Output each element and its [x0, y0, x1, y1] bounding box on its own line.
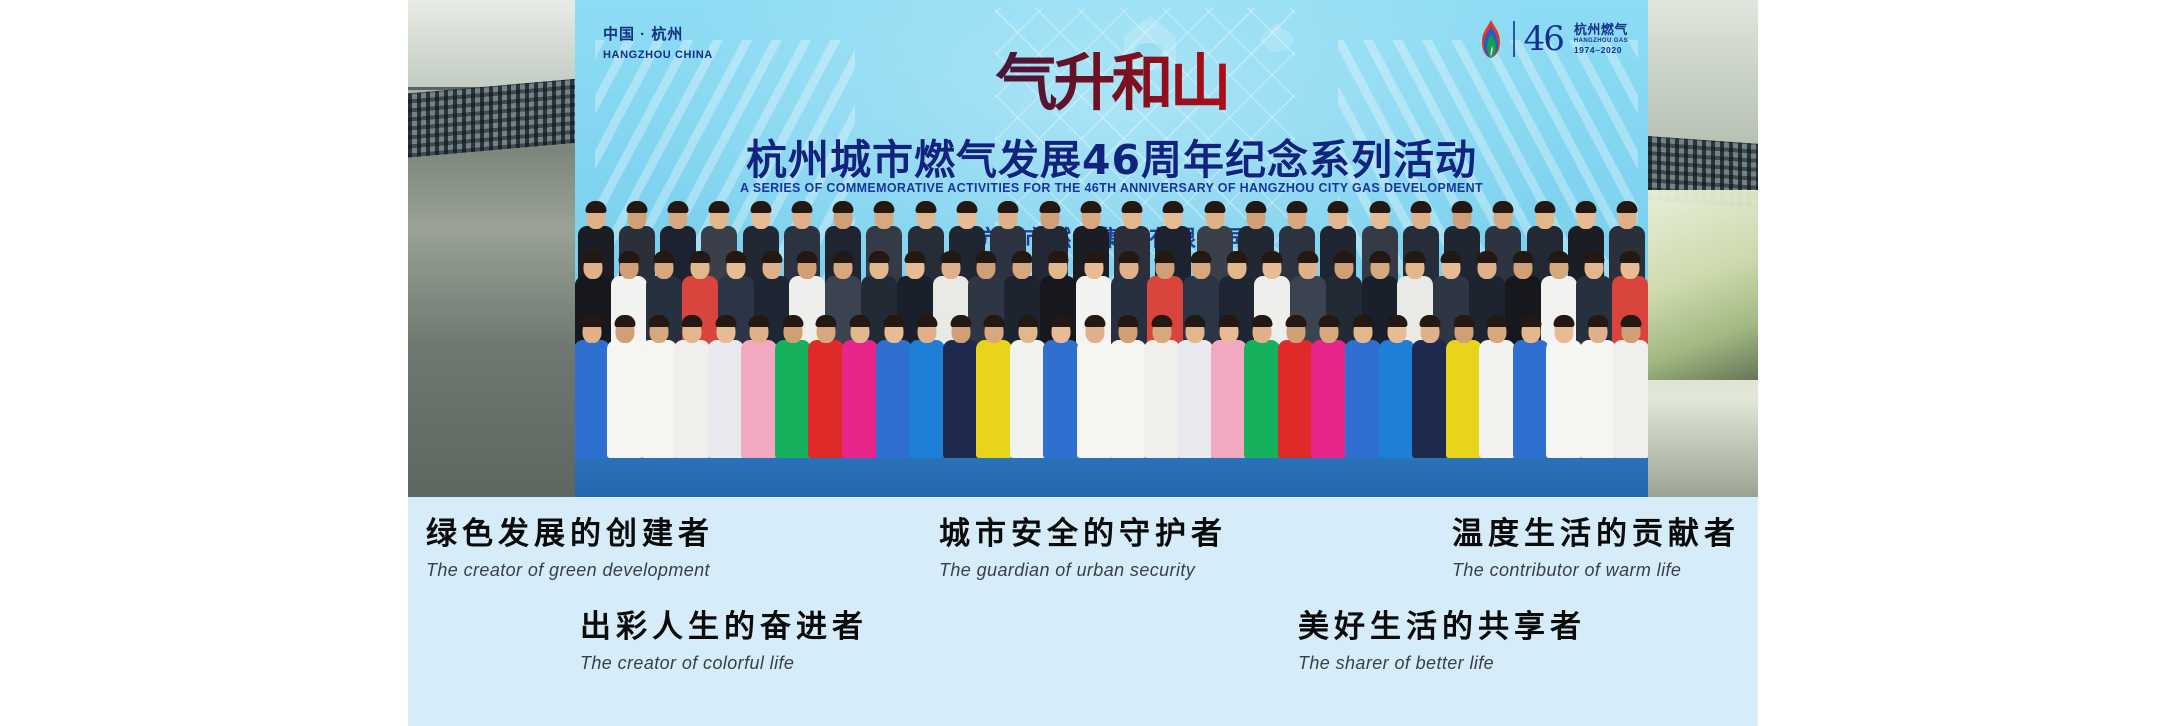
art-wordmark: 气升和山 [575, 52, 1648, 114]
person [843, 304, 877, 464]
person-body [976, 340, 1012, 458]
person-body [1311, 340, 1347, 458]
slogan-row-1: 绿色发展的创建者 The creator of green developmen… [408, 516, 1758, 581]
person [1581, 304, 1615, 464]
person-hair [1386, 315, 1407, 327]
person-body [641, 340, 677, 458]
person [944, 304, 978, 464]
person-hair [750, 201, 771, 213]
person-body [1110, 340, 1146, 458]
person-body [1446, 340, 1482, 458]
person-body [842, 340, 878, 458]
person-hair [668, 201, 689, 213]
person-hair [782, 315, 803, 327]
glass-panel-left [408, 0, 580, 90]
person [1212, 304, 1246, 464]
person [977, 304, 1011, 464]
slogan-panel: 绿色发展的创建者 The creator of green developmen… [408, 497, 1758, 726]
slogan-cn: 出彩人生的奋进者 [580, 609, 868, 647]
person [1112, 304, 1146, 464]
person-hair [797, 251, 818, 263]
person-hair [615, 315, 636, 327]
person [575, 304, 609, 464]
person-hair [1405, 251, 1426, 263]
person-body [1244, 340, 1280, 458]
person-hair [1155, 251, 1176, 263]
person-hair [715, 315, 736, 327]
person-body [1546, 340, 1582, 458]
person-hair [582, 251, 603, 263]
venue-wall-right [1648, 0, 1758, 497]
person-hair [1328, 201, 1349, 213]
person-body [943, 340, 979, 458]
person-hair [1452, 201, 1473, 213]
person [1614, 304, 1648, 464]
person-hair [1163, 201, 1184, 213]
person-hair [950, 315, 971, 327]
person-hair [1576, 201, 1597, 213]
person-hair [618, 251, 639, 263]
slogan-en: The creator of green development [426, 560, 714, 581]
person-hair [1083, 251, 1104, 263]
slogan-cn: 温度生活的贡献者 [1452, 516, 1740, 554]
person-hair [1119, 251, 1140, 263]
company-name-en: HANGZHOU GAS [1574, 38, 1628, 45]
person-hair [984, 315, 1005, 327]
slogan-cn: 城市安全的守护者 [939, 516, 1227, 554]
person-hair [1487, 315, 1508, 327]
person-hair [1262, 251, 1283, 263]
person-hair [883, 315, 904, 327]
slogan-item: 绿色发展的创建者 The creator of green developmen… [426, 516, 714, 581]
person-body [674, 340, 710, 458]
person-body [1010, 340, 1046, 458]
window-foliage [1648, 190, 1758, 380]
slogan-cn: 美好生活的共享者 [1298, 609, 1586, 647]
company-name-cn: 杭州燃气 [1574, 23, 1628, 38]
person-hair [1226, 251, 1247, 263]
person [1514, 304, 1548, 464]
people-group [575, 200, 1648, 497]
person-hair [690, 251, 711, 263]
person-hair [850, 315, 871, 327]
person [1480, 304, 1514, 464]
person-hair [1333, 251, 1354, 263]
person-body [876, 340, 912, 458]
main-title: 杭州城市燃气发展46周年纪念系列活动 [575, 126, 1648, 186]
person-body [1144, 340, 1180, 458]
person-hair [1080, 201, 1101, 213]
slogan-item: 出彩人生的奋进者 The creator of colorful life [580, 609, 868, 674]
person-hair [957, 201, 978, 213]
person-hair [1369, 251, 1390, 263]
person [743, 304, 777, 464]
person-hair [1620, 251, 1641, 263]
slogan-en: The contributor of warm life [1452, 560, 1740, 581]
person-body [575, 340, 610, 458]
person-hair [749, 315, 770, 327]
slogan-cn: 绿色发展的创建者 [426, 516, 714, 554]
person-body [909, 340, 945, 458]
page-root: 中国 · 杭州 HANGZHOU CHINA 46 杭州燃气 HANGZHOU … [0, 0, 2179, 726]
person-body [1177, 340, 1213, 458]
person-hair [1118, 315, 1139, 327]
person-hair [1252, 315, 1273, 327]
person-hair [915, 201, 936, 213]
person [709, 304, 743, 464]
person [642, 304, 676, 464]
person-hair [581, 315, 602, 327]
person [1011, 304, 1045, 464]
person-hair [585, 201, 606, 213]
person-hair [1218, 315, 1239, 327]
person-hair [1047, 251, 1068, 263]
poster-content: 中国 · 杭州 HANGZHOU CHINA 46 杭州燃气 HANGZHOU … [408, 0, 1758, 726]
person-hair [833, 251, 854, 263]
person-body [1211, 340, 1247, 458]
perforated-railing-left [408, 78, 580, 157]
person-hair [874, 201, 895, 213]
person-hair [654, 251, 675, 263]
person-hair [1534, 201, 1555, 213]
person-hair [761, 251, 782, 263]
person-body [607, 340, 643, 458]
glass-panel-right [1648, 0, 1758, 150]
subtitle: A SERIES OF COMMEMORATIVE ACTIVITIES FOR… [575, 181, 1648, 195]
person [1313, 304, 1347, 464]
person-hair [816, 315, 837, 327]
person-hair [1477, 251, 1498, 263]
person-hair [1493, 201, 1514, 213]
person-hair [1420, 315, 1441, 327]
person-hair [1122, 201, 1143, 213]
person-body [1043, 340, 1079, 458]
person-hair [1017, 315, 1038, 327]
person-hair [1410, 201, 1431, 213]
person-hair [1369, 201, 1390, 213]
person-hair [1352, 315, 1373, 327]
person [1145, 304, 1179, 464]
person-hair [1554, 315, 1575, 327]
person-hair [1512, 251, 1533, 263]
slogan-en: The guardian of urban security [939, 560, 1227, 581]
person-hair [1185, 315, 1206, 327]
person-hair [709, 201, 730, 213]
person-body [1412, 340, 1448, 458]
company-mark: 杭州燃气 HANGZHOU GAS 1974~2020 [1574, 23, 1628, 56]
person [1279, 304, 1313, 464]
person-hair [1051, 315, 1072, 327]
anniversary-number: 46 [1524, 22, 1563, 56]
person-hair [869, 251, 890, 263]
person-hair [1204, 201, 1225, 213]
person-hair [998, 201, 1019, 213]
person-hair [1441, 251, 1462, 263]
slogan-item: 温度生活的贡献者 The contributor of warm life [1452, 516, 1740, 581]
person [1246, 304, 1280, 464]
person [1346, 304, 1380, 464]
person [1380, 304, 1414, 464]
person-hair [1453, 315, 1474, 327]
venue-wall-left [408, 0, 580, 497]
person [676, 304, 710, 464]
person-hair [1621, 315, 1642, 327]
person-hair [682, 315, 703, 327]
location-label-cn: 中国 · 杭州 [603, 24, 713, 46]
people-row-front [575, 304, 1648, 464]
slogan-row-2: 出彩人生的奋进者 The creator of colorful life 美好… [408, 609, 1758, 674]
person-body [1077, 340, 1113, 458]
person-hair [1084, 315, 1105, 327]
person-body [1345, 340, 1381, 458]
person [1447, 304, 1481, 464]
person [1547, 304, 1581, 464]
person-hair [648, 315, 669, 327]
person-body [775, 340, 811, 458]
person [877, 304, 911, 464]
person-body [1513, 340, 1549, 458]
person-hair [791, 201, 812, 213]
person-body [808, 340, 844, 458]
person [1413, 304, 1447, 464]
person [1078, 304, 1112, 464]
person-body [708, 340, 744, 458]
person-hair [626, 201, 647, 213]
slogan-item: 美好生活的共享者 The sharer of better life [1298, 609, 1586, 674]
person [910, 304, 944, 464]
person-hair [976, 251, 997, 263]
person-hair [1190, 251, 1211, 263]
person-hair [1548, 251, 1569, 263]
person-hair [917, 315, 938, 327]
person-hair [1584, 251, 1605, 263]
slogan-en: The sharer of better life [1298, 653, 1586, 674]
person-hair [1617, 201, 1638, 213]
person [1179, 304, 1213, 464]
person-body [741, 340, 777, 458]
person-hair [1287, 201, 1308, 213]
person [776, 304, 810, 464]
slogan-item: 城市安全的守护者 The guardian of urban security [939, 516, 1227, 581]
person-hair [1012, 251, 1033, 263]
person-hair [1298, 251, 1319, 263]
person-body [1479, 340, 1515, 458]
person-body [1278, 340, 1314, 458]
person [609, 304, 643, 464]
person-hair [1319, 315, 1340, 327]
person-body [1580, 340, 1616, 458]
person-hair [1520, 315, 1541, 327]
person [810, 304, 844, 464]
person-hair [1245, 201, 1266, 213]
person-hair [725, 251, 746, 263]
person-hair [904, 251, 925, 263]
person [1044, 304, 1078, 464]
person-hair [1039, 201, 1060, 213]
person-body [1613, 340, 1648, 458]
group-photo: 中国 · 杭州 HANGZHOU CHINA 46 杭州燃气 HANGZHOU … [408, 0, 1758, 497]
person-hair [1285, 315, 1306, 327]
person-body [1379, 340, 1415, 458]
person-hair [1587, 315, 1608, 327]
person-hair [940, 251, 961, 263]
slogan-en: The creator of colorful life [580, 653, 868, 674]
person-hair [833, 201, 854, 213]
person-hair [1151, 315, 1172, 327]
